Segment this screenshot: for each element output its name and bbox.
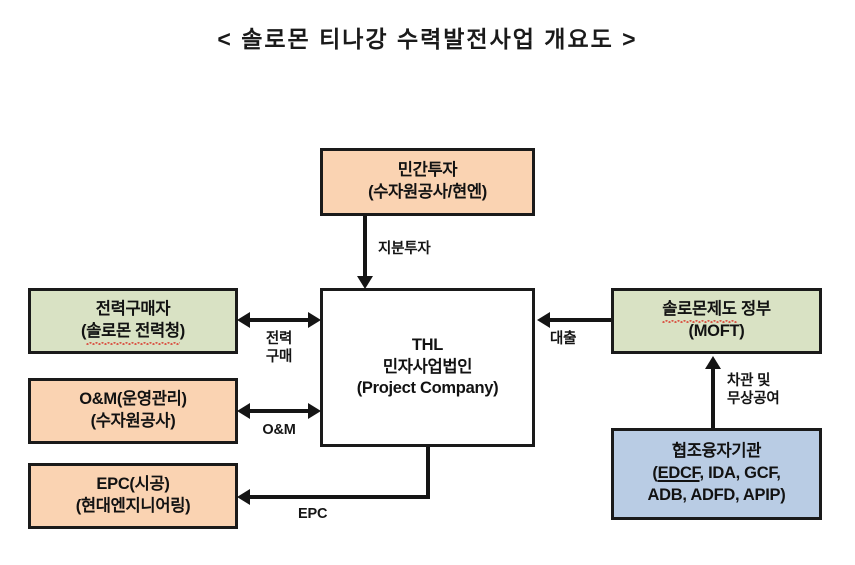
node-power-buyer-line2: (솔로몬 전력청): [35, 321, 231, 343]
node-om-line2: (수자원공사): [35, 411, 231, 433]
edge-power-purchase-line: [248, 318, 310, 322]
edge-epc-arrowhead: [237, 489, 250, 505]
node-project-company-line3: (Project Company): [327, 378, 528, 400]
edge-label-concessional-line2: 무상공여: [727, 390, 780, 408]
edge-label-equity-line1: 지분투자: [378, 241, 431, 257]
spellcheck-marked-text: 솔로몬제도: [662, 299, 736, 321]
node-cofinanciers: 협조융자기관 (EDCF, IDA, GCF, ADB, ADFD, APIP): [611, 428, 822, 520]
edge-label-epc-line1: EPC: [298, 506, 327, 522]
cofinancier-edcf: EDCF: [658, 464, 700, 482]
node-epc-line1: EPC(시공): [35, 474, 231, 496]
edge-concessional-arrowhead: [705, 356, 721, 369]
edge-om-line: [248, 409, 310, 413]
node-epc: EPC(시공) (현대엔지니어링): [28, 463, 238, 529]
node-project-company-line2: 민자사업법인: [327, 357, 528, 379]
node-project-company-line1: THL: [327, 335, 528, 357]
node-private-investor-line2: (수자원공사/현엔): [327, 182, 528, 204]
node-om-line1: O&M(운영관리): [35, 389, 231, 411]
edge-loan-line: [548, 318, 611, 322]
edge-equity-arrowhead: [357, 276, 373, 289]
edge-power-purchase-arrowhead-left: [237, 312, 250, 328]
node-project-company: THL 민자사업법인 (Project Company): [320, 288, 535, 447]
node-power-buyer: 전력구매자 (솔로몬 전력청): [28, 288, 238, 354]
node-government-line2: (MOFT): [618, 321, 815, 343]
edge-om-arrowhead-left: [237, 403, 250, 419]
edge-label-power-purchase-line2: 구매: [248, 348, 310, 366]
edge-label-loan-line1: 대출: [550, 331, 576, 347]
node-power-buyer-line1: 전력구매자: [35, 299, 231, 321]
edge-epc-line-vertical: [426, 447, 430, 499]
page-title: < 솔로몬 티나강 수력발전사업 개요도 >: [0, 20, 855, 54]
node-private-investor: 민간투자 (수자원공사/현엔): [320, 148, 535, 216]
cofinancier-rest: , IDA, GCF,: [700, 464, 781, 482]
spellcheck-marked-text: 솔로몬 전력청: [86, 321, 180, 343]
edge-label-power-purchase-line1: 전력: [248, 330, 310, 348]
edge-label-epc: EPC: [298, 505, 327, 523]
edge-label-loan: 대출: [550, 330, 576, 348]
edge-power-purchase-arrowhead-right: [308, 312, 321, 328]
edge-label-power-purchase: 전력 구매: [248, 330, 310, 366]
edge-epc-line-horizontal: [248, 495, 428, 499]
edge-om-arrowhead-right: [308, 403, 321, 419]
node-government: 솔로몬제도 정부 (MOFT): [611, 288, 822, 354]
node-private-investor-line1: 민간투자: [327, 160, 528, 182]
edge-concessional-line: [711, 366, 715, 428]
edge-label-concessional-line1: 차관 및: [727, 372, 780, 390]
node-government-line1: 솔로몬제도 정부: [618, 299, 815, 321]
node-epc-line2: (현대엔지니어링): [35, 496, 231, 518]
node-cofinanciers-line3: ADB, ADFD, APIP): [618, 485, 815, 507]
node-cofinanciers-line2: (EDCF, IDA, GCF,: [618, 463, 815, 485]
edge-equity-line: [363, 216, 367, 278]
node-cofinanciers-line1: 협조융자기관: [618, 441, 815, 463]
paren-close: ): [180, 322, 185, 340]
node-om: O&M(운영관리) (수자원공사): [28, 378, 238, 444]
edge-label-concessional: 차관 및 무상공여: [727, 372, 780, 408]
diagram-canvas: < 솔로몬 티나강 수력발전사업 개요도 > 민간투자 (수자원공사/현엔) T…: [0, 0, 855, 565]
edge-label-equity: 지분투자: [378, 240, 431, 258]
edge-label-om-line1: O&M: [262, 422, 295, 438]
edge-loan-arrowhead: [537, 312, 550, 328]
edge-label-om: O&M: [248, 421, 310, 439]
node-government-line1-suffix: 정부: [737, 300, 771, 318]
